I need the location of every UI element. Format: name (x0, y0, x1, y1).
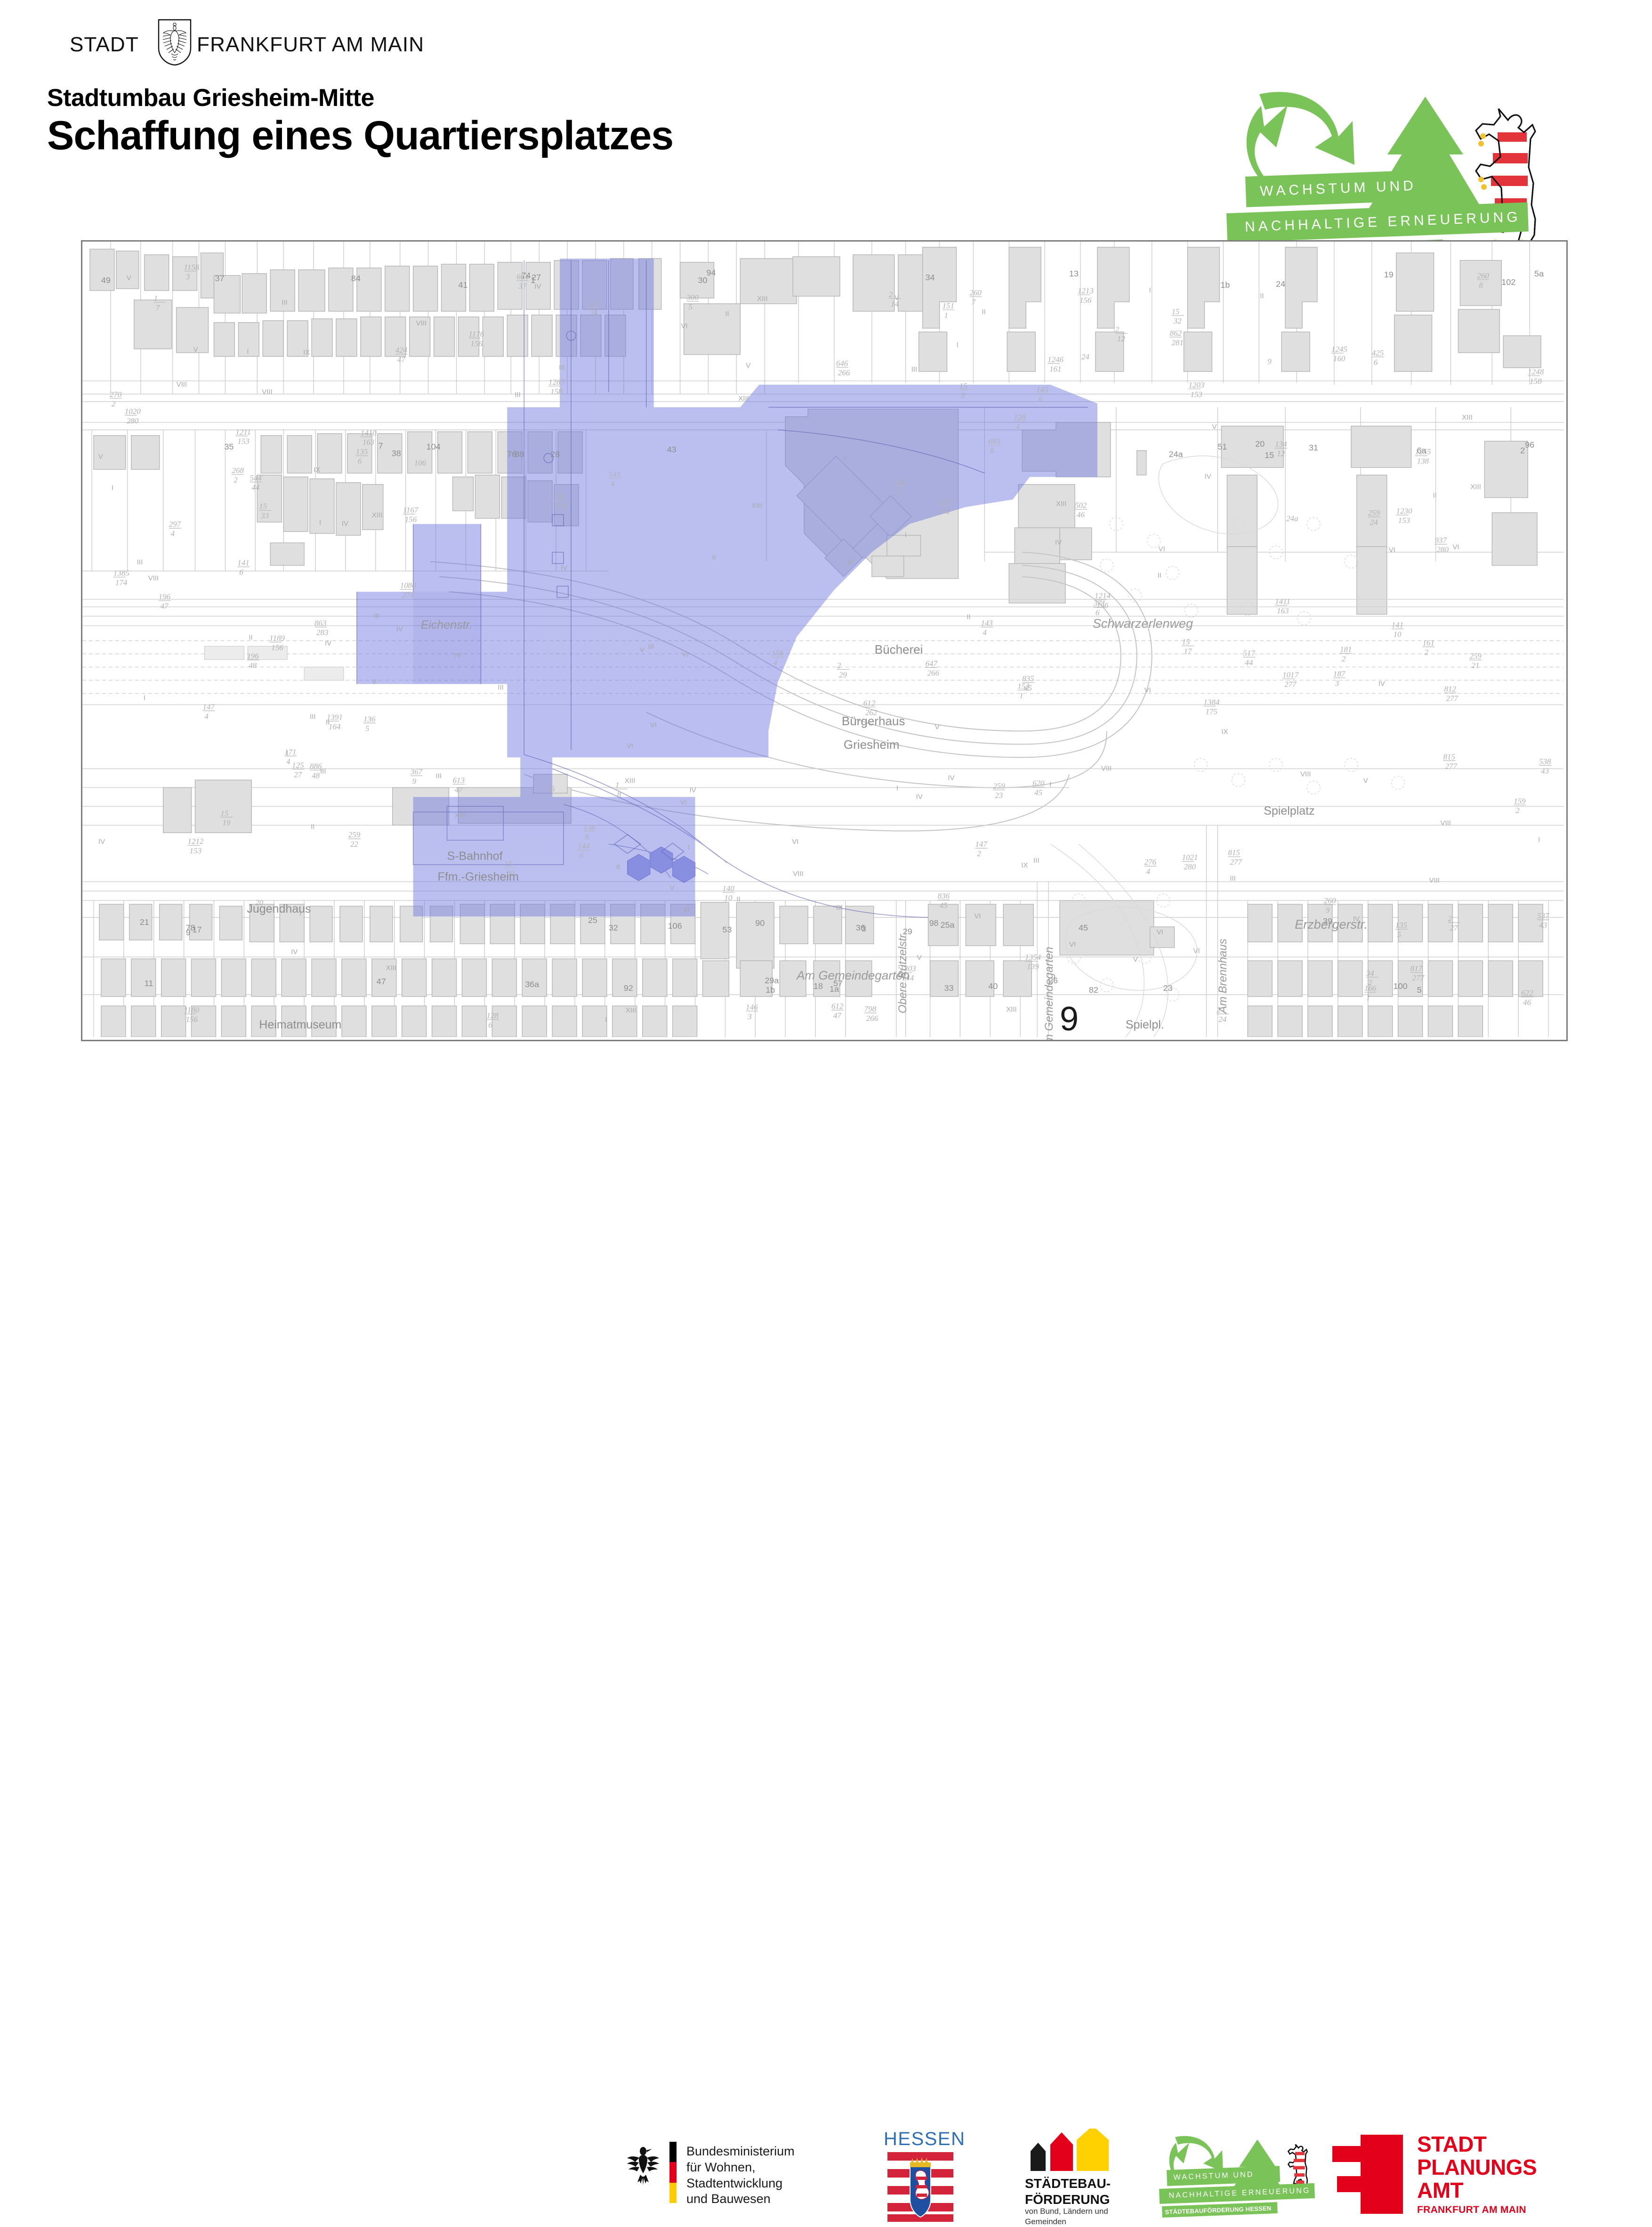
svg-text:270: 270 (110, 390, 122, 399)
house-number: 15 (1265, 451, 1274, 460)
street-label-am-gemeindegarten: Am Gemeindegarten (797, 968, 910, 983)
storey-marker: I (845, 454, 846, 462)
svg-text:46: 46 (1523, 998, 1531, 1007)
svg-text:44: 44 (251, 483, 259, 492)
parcel-number: 798266 (864, 1004, 878, 1023)
storey-marker: II (736, 895, 740, 903)
storey-marker: XIII (1056, 500, 1066, 508)
storey-marker: II (616, 863, 620, 871)
svg-text:9: 9 (1326, 906, 1330, 915)
svg-text:300: 300 (686, 293, 699, 302)
svg-text:836: 836 (938, 891, 950, 900)
svg-text:1354: 1354 (1025, 953, 1041, 962)
storey-marker: II (326, 718, 330, 726)
storey-marker: VIII (1429, 876, 1440, 884)
parcel-number: 106 (414, 459, 427, 468)
page-footer: Bundesministerium für Wohnen, Stadtentwi… (0, 1062, 1652, 1168)
parcel-number: 1189156 (269, 633, 285, 652)
house-number: 34 (926, 273, 935, 282)
svg-text:158: 158 (1530, 377, 1542, 386)
storey-marker: IV (1055, 539, 1062, 547)
storey-marker: VIII (148, 575, 159, 583)
house-number: 13 (1069, 269, 1079, 278)
house-number: 92 (624, 983, 633, 993)
svg-text:6: 6 (1374, 358, 1378, 367)
storey-marker: III (282, 299, 287, 307)
storey-marker: III (911, 365, 917, 373)
house-number: 98 (929, 918, 939, 928)
storey-marker: I (286, 749, 288, 757)
svg-text:21: 21 (1471, 661, 1479, 670)
storey-marker: I (956, 341, 958, 349)
parcel-number: 26 (547, 784, 555, 793)
storey-marker: II (1260, 292, 1264, 300)
storey-marker: III (648, 643, 654, 651)
parcel-number: 1245160 (1331, 345, 1347, 363)
svg-text:6: 6 (990, 446, 994, 455)
stadt-frankfurt-text-1: STADT (70, 33, 139, 57)
storey-marker: IX (1021, 861, 1028, 869)
storey-marker: II (1158, 572, 1161, 580)
svg-text:37: 37 (518, 282, 527, 291)
svg-text:139: 139 (1027, 962, 1039, 971)
svg-text:4: 4 (773, 658, 777, 667)
house-number: 49 (101, 275, 111, 285)
place-label-b-rgerhaus: Bürgerhaus (842, 714, 905, 729)
svg-text:425: 425 (1372, 348, 1384, 357)
parcel-number: 1211153 (235, 428, 251, 446)
storey-marker: VIII (262, 388, 272, 396)
place-label-s-bahnhof: S-Bahnhof (447, 850, 503, 863)
house-number: 35 (224, 442, 234, 452)
storey-marker: VIII (416, 319, 427, 327)
house-number: 5 (1417, 985, 1422, 995)
svg-text:4: 4 (983, 628, 987, 637)
svg-text:153: 153 (190, 846, 201, 855)
house-number: 25 (588, 915, 597, 925)
stadtplanungsamt-title: STADT PLANUNGS AMT (1417, 2133, 1537, 2203)
storey-marker: VIII (177, 381, 187, 389)
place-label-jugendhaus: Jugendhaus (247, 902, 311, 916)
parcel-number: 1203153 (1189, 381, 1205, 399)
parcel-number: 862281 (1170, 329, 1184, 347)
storey-marker: IV (454, 651, 461, 659)
svg-text:4: 4 (205, 712, 209, 721)
parcel-number: 1246161 (1048, 355, 1064, 373)
svg-text:161: 161 (1049, 364, 1061, 373)
svg-text:1020: 1020 (125, 407, 141, 416)
svg-text:23: 23 (995, 791, 1003, 800)
svg-text:43: 43 (1539, 921, 1547, 930)
storey-marker: IV (98, 838, 105, 846)
house-number: 19 (1384, 270, 1394, 279)
svg-text:164: 164 (329, 722, 341, 731)
svg-text:815: 815 (1228, 848, 1240, 857)
svg-text:15: 15 (220, 809, 228, 818)
house-number: 40 (988, 981, 998, 991)
storey-marker: VI (627, 742, 633, 750)
svg-text:10: 10 (724, 893, 732, 902)
svg-text:277: 277 (1230, 858, 1242, 867)
svg-text:141: 141 (237, 559, 249, 567)
storey-marker: VI (1389, 546, 1395, 554)
parcel-number: 1167156 (403, 506, 419, 524)
svg-text:16: 16 (590, 309, 598, 318)
svg-text:268: 268 (232, 466, 244, 475)
svg-text:277: 277 (1445, 761, 1458, 770)
svg-text:2: 2 (889, 290, 893, 299)
svg-text:138: 138 (1417, 457, 1429, 466)
svg-text:47: 47 (161, 602, 169, 611)
storey-marker: XIII (751, 502, 762, 510)
storey-marker: XIII (738, 395, 749, 403)
svg-text:4: 4 (1015, 422, 1020, 431)
storey-marker: XIII (372, 511, 382, 519)
street-label-eichenstr-: Eichenstr. (421, 618, 473, 632)
parcel-number: 1411163 (1275, 597, 1290, 615)
svg-text:1017: 1017 (1282, 670, 1299, 679)
svg-text:134: 134 (1275, 440, 1287, 449)
storey-marker: IX (1221, 728, 1228, 736)
storey-marker: V (670, 884, 675, 892)
svg-text:1246: 1246 (1048, 355, 1064, 364)
svg-text:2: 2 (1342, 654, 1346, 663)
title-block: Stadtumbau Griesheim-Mitte Schaffung ein… (47, 85, 673, 157)
svg-text:143: 143 (981, 619, 992, 628)
svg-text:863: 863 (314, 619, 326, 628)
house-number: 36a (525, 980, 539, 989)
storey-marker: III (1230, 875, 1235, 883)
svg-text:43: 43 (1541, 766, 1549, 775)
svg-text:145: 145 (1036, 385, 1048, 394)
stadtplanungsamt-subtitle: FRANKFURT AM MAIN (1417, 2204, 1526, 2216)
svg-text:4: 4 (1146, 867, 1151, 876)
house-number: 78 (186, 923, 195, 932)
storey-marker: VI (1452, 543, 1459, 551)
svg-text:44: 44 (1245, 658, 1253, 667)
svg-text:19: 19 (222, 818, 230, 827)
svg-text:1: 1 (1366, 993, 1370, 1002)
svg-text:128: 128 (486, 1011, 499, 1020)
storey-marker: V (746, 362, 750, 370)
storey-marker: III (374, 612, 379, 620)
storey-marker: V (1212, 423, 1217, 431)
storey-marker: VI (1144, 686, 1151, 694)
svg-text:24: 24 (1081, 352, 1089, 361)
svg-text:156: 156 (1080, 296, 1092, 305)
parcel-number: 1020280 (125, 407, 141, 425)
svg-text:1176: 1176 (468, 330, 484, 339)
parcel-number: 1213156 (1078, 286, 1094, 305)
svg-text:9: 9 (1060, 1000, 1079, 1037)
storey-marker: I (605, 1016, 607, 1024)
svg-text:156: 156 (405, 515, 417, 524)
storey-marker: I (247, 348, 249, 356)
house-number: 20 (1255, 439, 1265, 449)
storey-marker: XIII (1462, 413, 1472, 421)
place-label-b-cherei: Bücherei (875, 642, 923, 657)
svg-text:281: 281 (1172, 338, 1184, 347)
cadastral-map[interactable]: 9 12355a791113151718192021232424a2526272… (81, 240, 1568, 1041)
svg-text:32: 32 (1173, 316, 1182, 325)
storey-marker: II (712, 554, 716, 562)
svg-text:24a: 24a (1286, 514, 1298, 523)
frankfurt-eagle-crest-icon (157, 19, 192, 66)
svg-text:162: 162 (939, 507, 951, 516)
svg-text:612: 612 (831, 1002, 844, 1011)
storey-marker: IV (291, 948, 298, 956)
svg-text:9: 9 (412, 777, 417, 786)
storey-marker: II (982, 308, 985, 316)
svg-text:159: 159 (1514, 796, 1526, 805)
svg-text:12: 12 (1277, 449, 1285, 458)
house-number: 96 (1525, 440, 1534, 450)
parcel-number: 1384175 (1203, 697, 1219, 716)
svg-text:371: 371 (1093, 599, 1105, 608)
storey-marker: V (935, 723, 940, 731)
svg-text:125: 125 (292, 761, 304, 769)
svg-text:158: 158 (771, 648, 783, 657)
svg-text:27: 27 (1450, 923, 1458, 932)
svg-text:537: 537 (1537, 911, 1550, 920)
svg-text:812: 812 (1444, 684, 1456, 693)
svg-text:22: 22 (350, 840, 358, 849)
house-number: 37 (215, 274, 224, 283)
svg-text:24: 24 (1218, 1015, 1226, 1024)
svg-text:798: 798 (864, 1004, 877, 1013)
parcel-number: 1212153 (188, 837, 204, 855)
storey-marker: VIII (793, 870, 803, 878)
house-number: 104 (427, 442, 441, 452)
svg-text:156: 156 (271, 643, 283, 652)
hessen-coat-of-arms-icon (883, 2152, 958, 2222)
parcel-number: 1385174 (113, 569, 129, 587)
hessen-lion-small-icon (1288, 2145, 1307, 2188)
street-label-am-gemeindegarten: Am Gemeindegarten (1043, 947, 1056, 1041)
storey-marker: II (249, 633, 252, 641)
storey-marker: IX (303, 348, 310, 356)
svg-text:24: 24 (1370, 518, 1378, 527)
svg-text:11: 11 (896, 487, 904, 496)
svg-text:6: 6 (239, 568, 243, 577)
svg-text:15: 15 (1182, 637, 1190, 646)
storey-marker: I (144, 694, 145, 702)
parcel-number: 24a (1286, 514, 1298, 523)
place-label-spielpl-: Spielpl. (1126, 1018, 1164, 1032)
svg-text:817: 817 (1410, 964, 1423, 973)
svg-text:146: 146 (746, 1003, 758, 1012)
svg-text:517: 517 (1243, 648, 1256, 657)
svg-text:8: 8 (617, 790, 621, 799)
storey-marker: VIII (1300, 770, 1311, 778)
svg-text:5: 5 (365, 724, 369, 733)
street-label-am-brennhaus: Am Brennhaus (1217, 939, 1230, 1013)
svg-text:1230: 1230 (1396, 507, 1412, 516)
svg-text:5: 5 (689, 302, 693, 311)
svg-text:6: 6 (488, 1020, 492, 1029)
svg-text:47: 47 (833, 1011, 842, 1020)
house-number: 106 (668, 921, 682, 931)
svg-text:502: 502 (1075, 501, 1087, 510)
stadt-frankfurt-text-2: FRANKFURT AM MAIN (197, 33, 424, 57)
parcel-number: 646266 (836, 359, 850, 377)
storey-marker: I (1049, 780, 1051, 788)
svg-text:6: 6 (585, 832, 589, 841)
parcel-number: 1354139 (1025, 953, 1041, 971)
svg-text:2: 2 (1448, 914, 1452, 923)
storey-marker: XIII (1470, 483, 1481, 491)
svg-text:135: 135 (1395, 921, 1407, 930)
svg-text:937: 937 (1435, 536, 1448, 545)
svg-text:4: 4 (286, 757, 290, 766)
svg-text:174: 174 (115, 578, 128, 587)
parcel-number: 1021280 (1182, 853, 1198, 871)
svg-text:544: 544 (250, 474, 262, 483)
house-number: 27 (532, 273, 541, 282)
storey-marker: I (112, 484, 113, 492)
storey-marker: V (1133, 956, 1138, 964)
house-number: 47 (377, 977, 386, 986)
svg-text:1213: 1213 (1078, 286, 1094, 295)
storey-marker: III (310, 713, 315, 721)
svg-text:2: 2 (1115, 325, 1120, 334)
svg-text:160: 160 (1333, 354, 1346, 363)
svg-text:4: 4 (171, 529, 175, 538)
svg-text:187: 187 (1333, 669, 1346, 678)
svg-text:2: 2 (977, 849, 981, 858)
staedtebaufoerderung-logo: STÄDTEBAU- FÖRDERUNG von Bund, Ländern u… (1019, 2129, 1156, 2223)
svg-text:647: 647 (926, 659, 938, 668)
place-label-spielplatz: Spielplatz (1264, 804, 1314, 818)
svg-text:259: 259 (1469, 651, 1482, 660)
svg-text:27: 27 (294, 770, 302, 779)
storey-marker: III (137, 559, 143, 567)
storey-marker: VI (650, 721, 657, 729)
storey-marker: XIII (757, 295, 767, 303)
hessen-wordmark: HESSEN (884, 2129, 966, 2150)
storey-marker: VI (974, 912, 981, 920)
storey-marker: III (436, 772, 442, 780)
svg-text:277: 277 (1446, 694, 1459, 703)
house-number: 28 (550, 450, 560, 459)
house-number: 90 (755, 918, 765, 928)
house-number: 102 (1501, 277, 1515, 287)
bundesadler-icon (626, 2144, 660, 2186)
place-label-ffm-griesheim: Ffm.-Griesheim (438, 870, 519, 884)
svg-text:664: 664 (516, 272, 529, 281)
page-title: Schaffung eines Quartiersplatzes (47, 114, 673, 157)
place-label-heimatmuseum: Heimatmuseum (259, 1018, 341, 1032)
parcel-number: 937280 (1435, 536, 1449, 554)
storey-marker: IX (836, 904, 843, 912)
svg-text:1248: 1248 (1528, 367, 1544, 376)
house-number: 88 (515, 450, 524, 459)
svg-text:259: 259 (1368, 509, 1380, 518)
svg-text:163: 163 (1277, 607, 1289, 615)
svg-text:45: 45 (1024, 683, 1032, 692)
house-number: 45 (1079, 923, 1088, 932)
street-label-erzbergerstr-: Erzbergerstr. (1295, 917, 1368, 932)
svg-text:1410: 1410 (361, 429, 377, 437)
storey-marker: I (688, 843, 690, 851)
storey-marker: V (1363, 777, 1368, 785)
svg-text:620: 620 (1032, 778, 1045, 787)
svg-text:1: 1 (154, 294, 158, 303)
svg-text:48: 48 (312, 771, 320, 780)
storey-marker: II (1433, 492, 1437, 500)
svg-text:1167: 1167 (403, 506, 419, 515)
house-number: 11 (145, 979, 153, 988)
svg-text:538: 538 (1539, 757, 1551, 766)
street-label-schwarzerlenweg: Schwarzerlenweg (1093, 616, 1193, 631)
svg-text:136: 136 (894, 478, 907, 486)
house-number: 24a (1169, 450, 1183, 459)
svg-text:26: 26 (547, 784, 555, 793)
svg-text:136: 136 (583, 823, 596, 832)
germany-flag-bar (669, 2142, 677, 2203)
parcel-number: 1080274 (400, 581, 416, 599)
house-number: 25a (941, 920, 955, 930)
svg-text:277: 277 (1412, 973, 1425, 982)
house-number: 100 (1394, 981, 1408, 991)
storey-marker: III (847, 559, 853, 567)
svg-text:1: 1 (944, 311, 948, 320)
parcel-number: 791270 (553, 493, 567, 511)
storey-marker: XIII (454, 811, 465, 819)
storey-marker: V (372, 678, 377, 686)
svg-text:424: 424 (395, 346, 408, 355)
svg-text:646: 646 (836, 359, 848, 368)
house-number: 38 (392, 449, 401, 458)
storey-marker: IV (916, 793, 923, 801)
storey-marker: XIII (626, 1006, 636, 1014)
storey-marker: II (725, 310, 729, 318)
svg-text:260: 260 (1477, 271, 1489, 280)
svg-text:1: 1 (1019, 691, 1023, 700)
house-number: 23 (1163, 983, 1173, 993)
stadtplanungsamt-mark-icon (1332, 2135, 1403, 2214)
house-number: 24 (1276, 279, 1285, 289)
svg-text:1245: 1245 (1331, 345, 1347, 354)
svg-text:1247: 1247 (937, 497, 953, 506)
storey-marker: IV (534, 283, 541, 291)
svg-text:156: 156 (186, 1015, 198, 1024)
svg-text:266: 266 (927, 668, 940, 677)
storey-marker: IV (1204, 473, 1211, 481)
svg-text:266: 266 (838, 368, 850, 377)
house-number: 29a (765, 976, 779, 985)
parcel-number: 9 (1267, 357, 1272, 366)
svg-text:15: 15 (504, 859, 512, 868)
svg-text:2: 2 (1425, 648, 1429, 656)
storey-marker: I (896, 784, 898, 792)
svg-text:3: 3 (747, 1012, 751, 1021)
storey-marker: VI (1157, 928, 1163, 936)
house-number: 5a (1534, 269, 1544, 278)
storey-marker: I (1149, 286, 1151, 294)
svg-text:15: 15 (259, 502, 267, 511)
parcel-number: 1285158 (548, 378, 564, 396)
storey-marker: V (127, 274, 131, 282)
svg-text:1285: 1285 (548, 378, 564, 387)
svg-text:1211: 1211 (235, 428, 251, 437)
svg-text:141: 141 (609, 470, 621, 479)
svg-text:259: 259 (993, 781, 1005, 790)
svg-text:45: 45 (940, 901, 948, 910)
svg-text:2: 2 (234, 476, 238, 485)
svg-text:276: 276 (1144, 858, 1157, 867)
house-number: 43 (667, 445, 677, 454)
